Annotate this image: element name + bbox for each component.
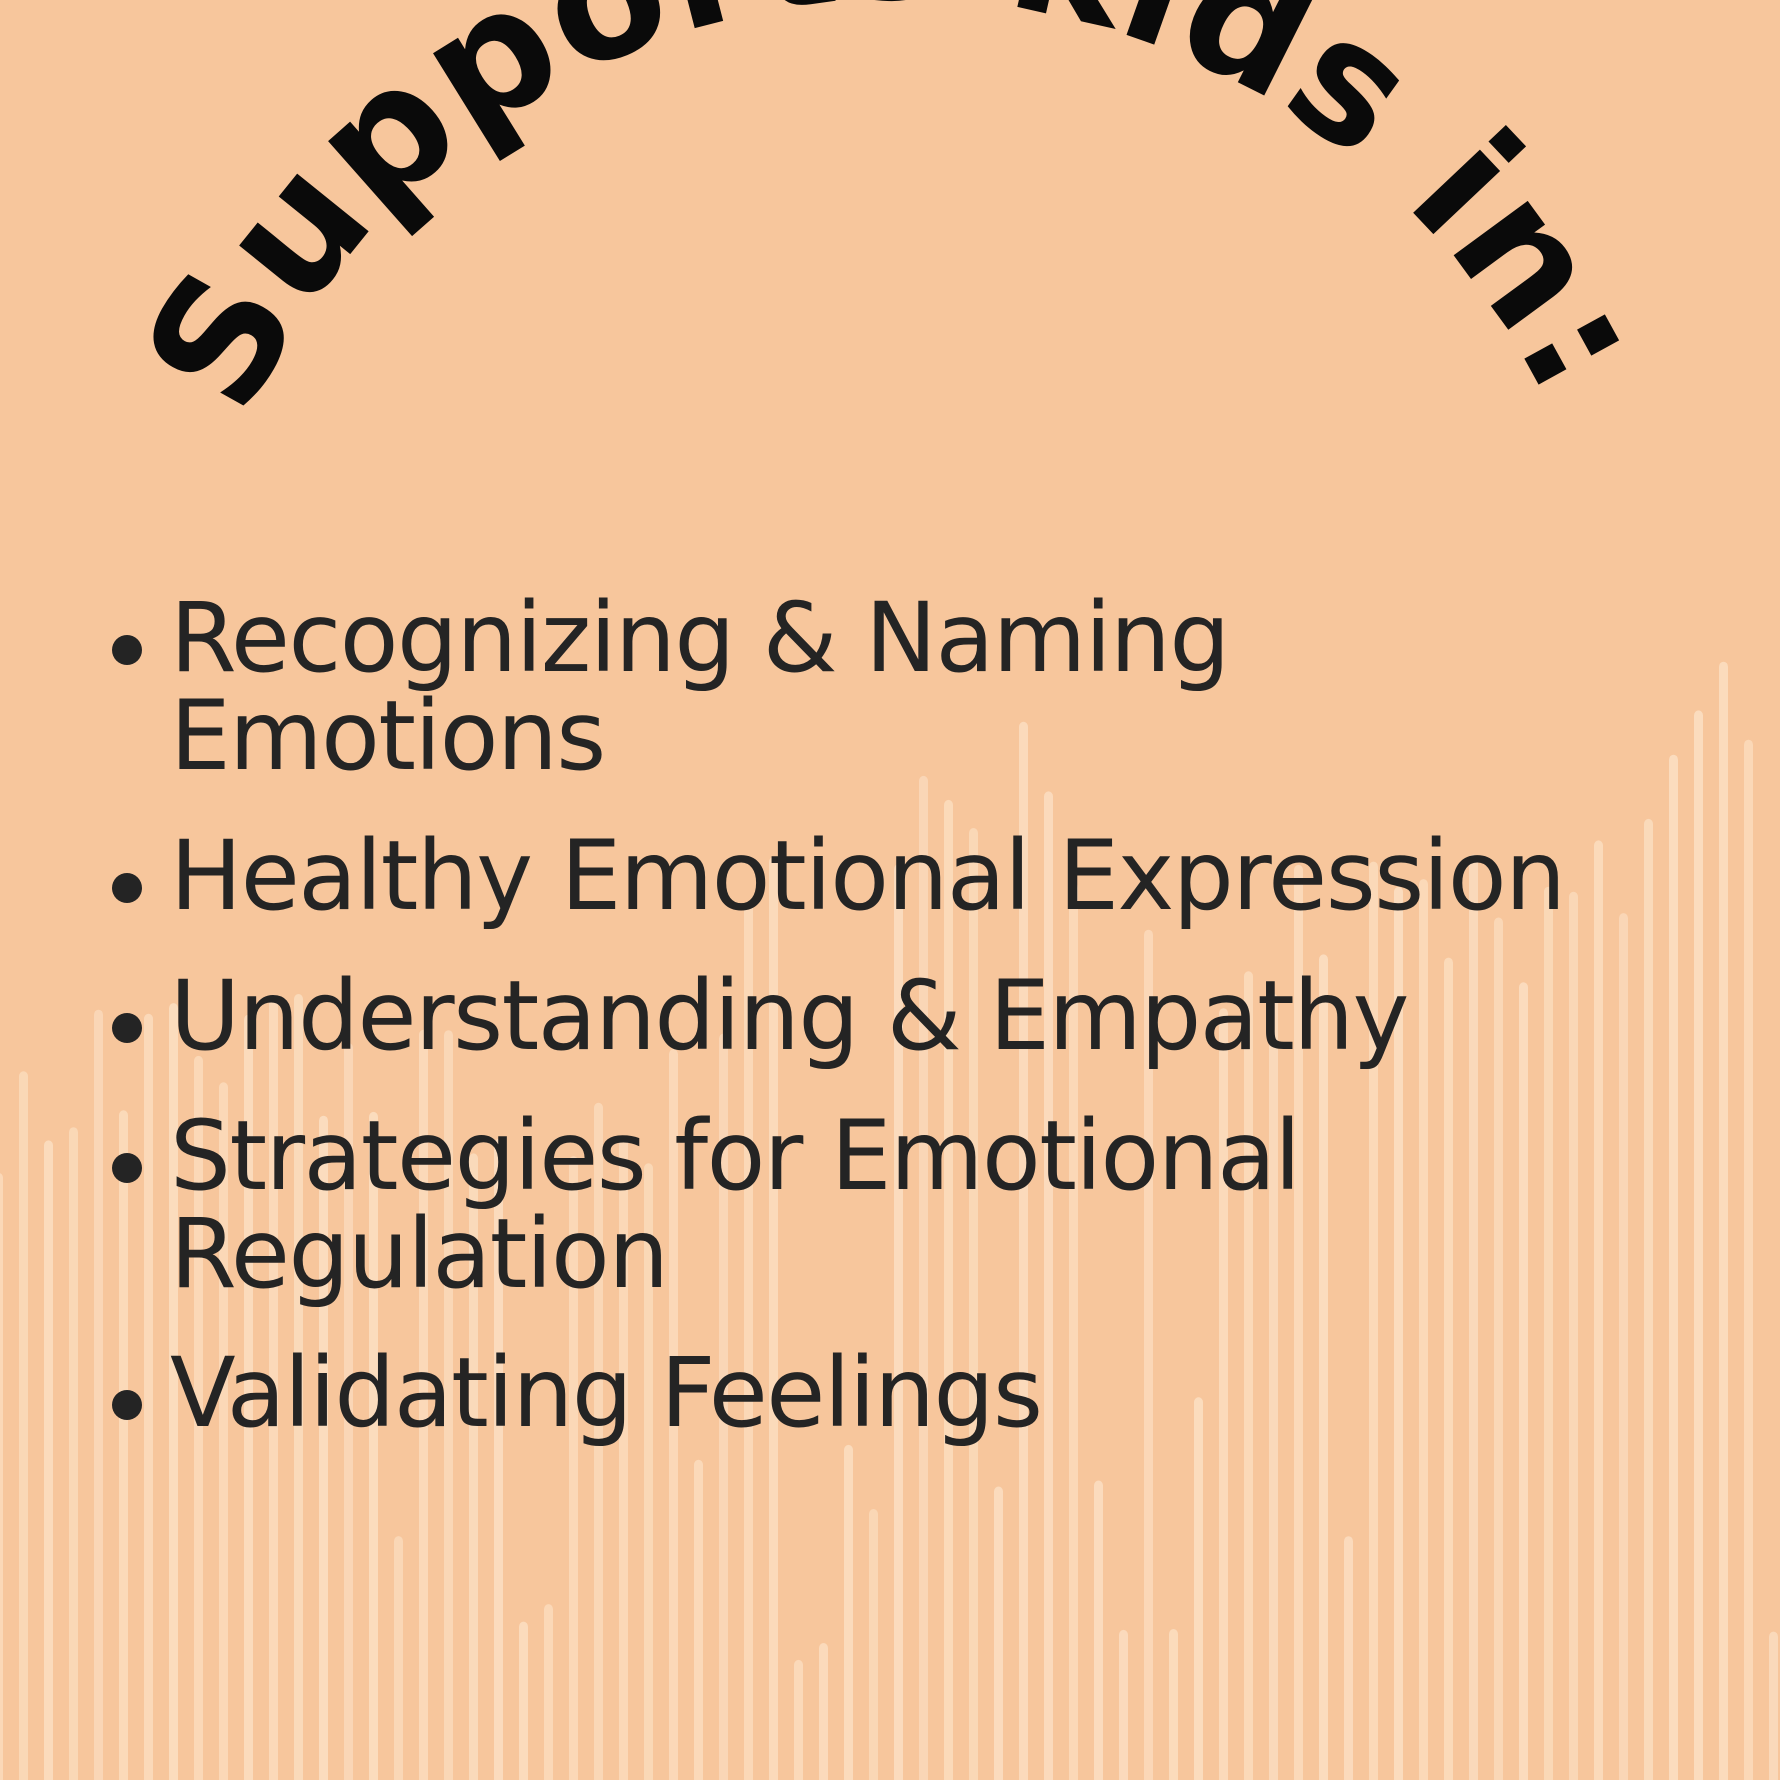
bullet-dot-icon [112, 873, 142, 903]
bullet-list: Recognizing & Naming Emotions Healthy Em… [112, 590, 1712, 1443]
title-textpath: Supports kids in: [106, 0, 1684, 440]
list-item: Understanding & Empathy [112, 968, 1712, 1066]
title-arc-svg: Supports kids in: [0, 95, 1780, 525]
list-item-label: Understanding & Empathy [170, 968, 1712, 1066]
list-item-label: Validating Feelings [170, 1345, 1712, 1443]
list-item-label: Recognizing & Naming Emotions [170, 590, 1712, 786]
list-item: Validating Feelings [112, 1345, 1712, 1443]
list-item-label: Strategies for Emotional Regulation [170, 1108, 1712, 1304]
title-text: Supports kids in: [106, 0, 1684, 440]
bullet-dot-icon [112, 1153, 142, 1183]
list-item-label: Healthy Emotional Expression [170, 828, 1712, 926]
list-item: Strategies for Emotional Regulation [112, 1108, 1712, 1304]
bullet-dot-icon [112, 1390, 142, 1420]
page-title: Supports kids in: [0, 95, 1780, 525]
list-item: Healthy Emotional Expression [112, 828, 1712, 926]
list-item: Recognizing & Naming Emotions [112, 590, 1712, 786]
bullet-dot-icon [112, 1013, 142, 1043]
bullet-dot-icon [112, 635, 142, 665]
poster-canvas: Supports kids in: Recognizing & Naming E… [0, 0, 1780, 1780]
